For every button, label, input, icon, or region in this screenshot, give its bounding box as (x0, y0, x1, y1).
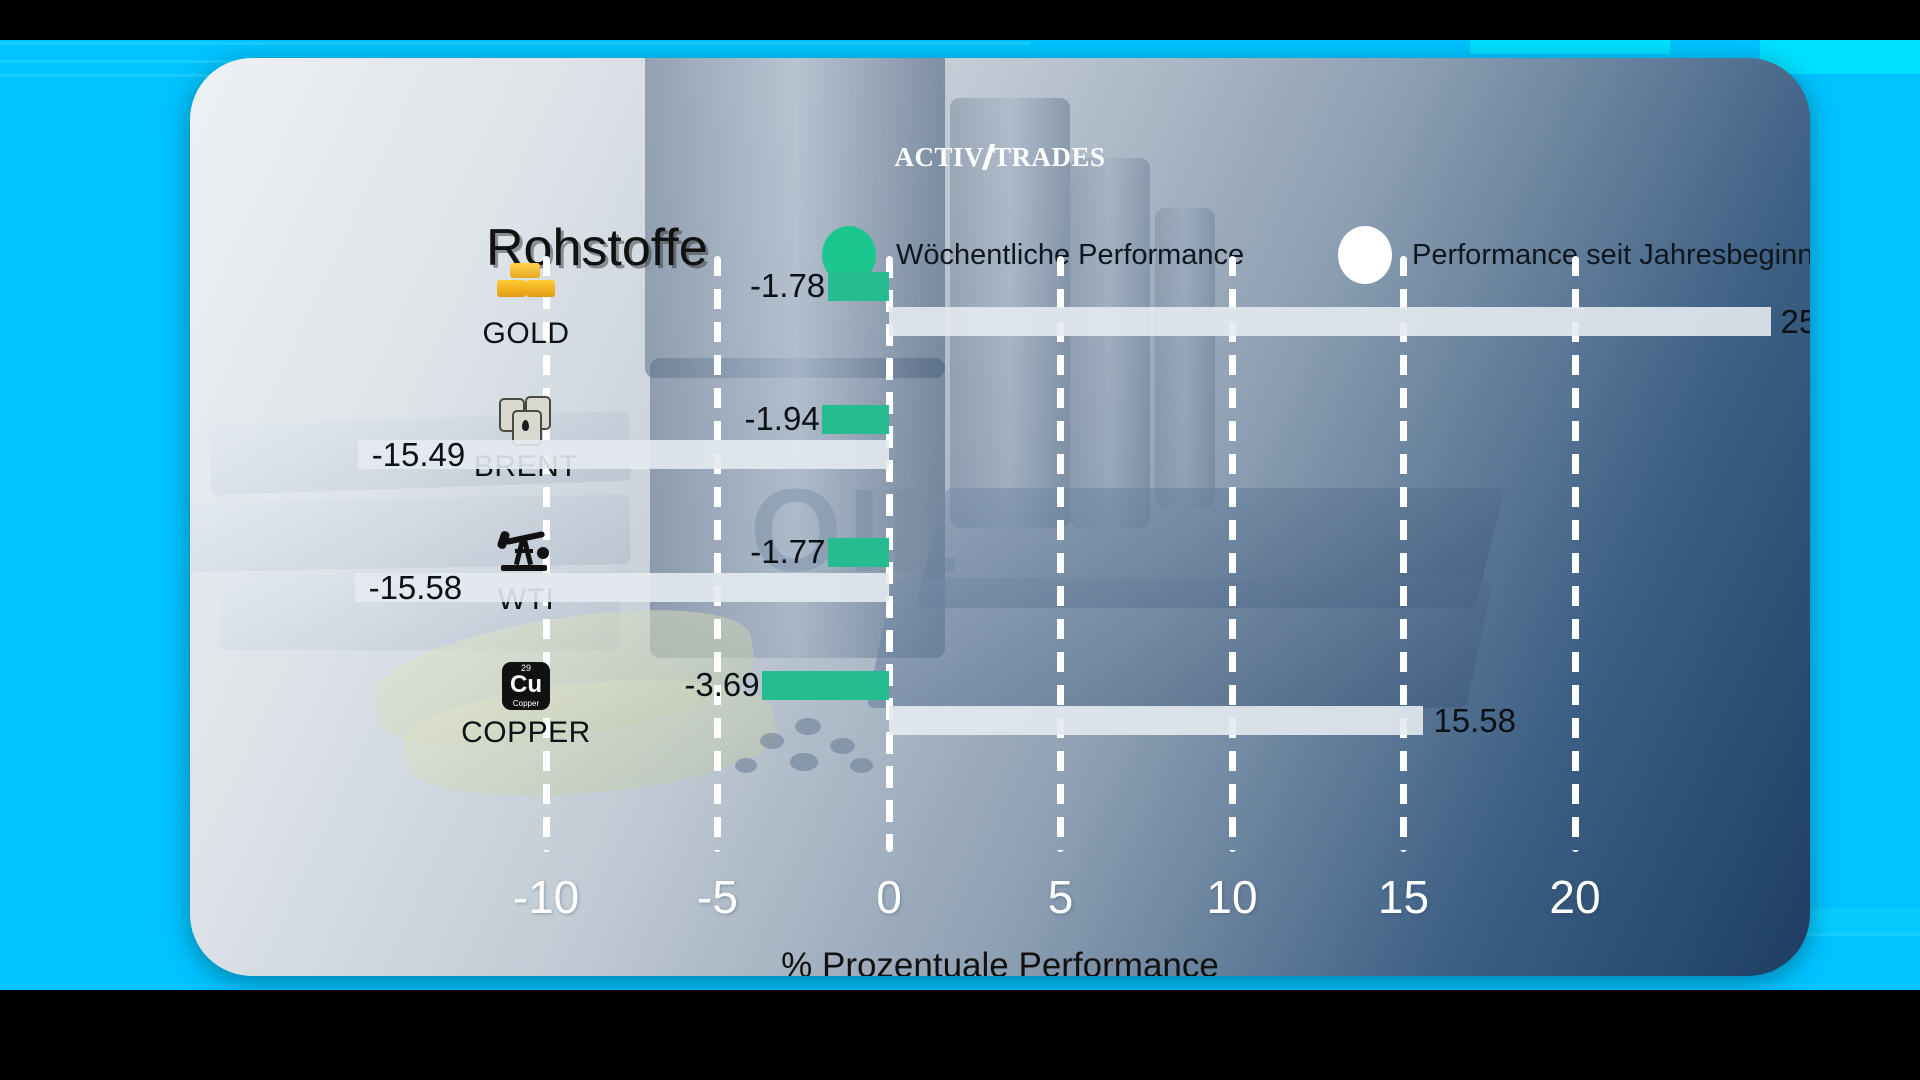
bar-weekly-copper (762, 671, 889, 700)
bar-ytd-copper (889, 706, 1423, 735)
row-label-copper: COPPER (406, 716, 646, 750)
bar-weekly-wti (828, 538, 889, 567)
gridline-15 (1400, 256, 1407, 852)
x-tick-20: 20 (1549, 870, 1600, 924)
bar-value-ytd-brent: -15.49 (372, 436, 466, 474)
bar-weekly-gold (828, 272, 889, 301)
x-tick--5: -5 (697, 870, 738, 924)
bar-value-ytd-copper: 15.58 (1433, 702, 1516, 740)
letterbox-bottom (0, 990, 1920, 1080)
bar-value-weekly-copper: -3.69 (684, 666, 759, 704)
x-tick-0: 0 (876, 870, 902, 924)
x-tick-15: 15 (1378, 870, 1429, 924)
gridline-5 (1057, 256, 1064, 852)
bar-value-weekly-wti: -1.77 (750, 533, 825, 571)
bar-value-weekly-gold: -1.78 (750, 267, 825, 305)
bar-value-weekly-brent: -1.94 (744, 400, 819, 438)
gold-bars-icon (497, 263, 555, 297)
gridline--5 (714, 256, 721, 852)
oil-barrels-icon (499, 396, 553, 444)
letterbox-top (0, 0, 1920, 40)
x-tick--10: -10 (513, 870, 579, 924)
row-icon-copper: 29CuCopper (488, 662, 564, 717)
gridline-10 (1229, 256, 1236, 852)
copper-element-icon: 29CuCopper (502, 662, 550, 710)
x-tick-10: 10 (1206, 870, 1257, 924)
bar-value-ytd-gold: 25.70 (1781, 303, 1811, 341)
bar-value-ytd-wti: -15.58 (369, 569, 463, 607)
screenshot-root: OIL ACTIVTRADES Rohstoffe Wöchentliche P… (0, 0, 1920, 1080)
bar-weekly-brent (822, 405, 889, 434)
row-label-gold: GOLD (406, 317, 646, 351)
x-axis-label: % Prozentuale Performance (190, 946, 1810, 976)
chart-panel: OIL ACTIVTRADES Rohstoffe Wöchentliche P… (190, 58, 1810, 976)
gridline-20 (1572, 256, 1579, 852)
oil-pumpjack-icon (497, 529, 555, 573)
row-icon-gold (488, 263, 564, 304)
bar-ytd-gold (889, 307, 1771, 336)
x-tick-5: 5 (1048, 870, 1074, 924)
plot-area: -10-505101520GOLD-1.7825.70BRENT-1.94-15… (190, 58, 1810, 976)
